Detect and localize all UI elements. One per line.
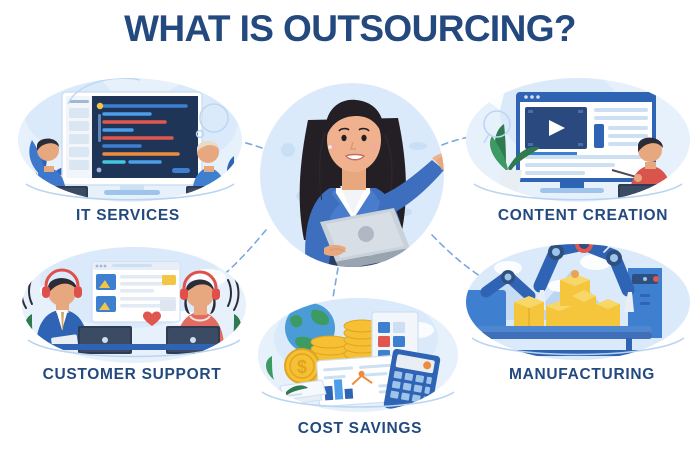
node-label-manufacturing: MANUFACTURING bbox=[468, 366, 696, 384]
center-figure-group bbox=[260, 83, 462, 270]
node-label-content-creation: CONTENT CREATION bbox=[472, 207, 694, 225]
page-title: WHAT IS OUTSOURCING? bbox=[0, 10, 700, 47]
connector-customer-support bbox=[220, 230, 266, 278]
node-label-customer-support: CUSTOMER SUPPORT bbox=[12, 366, 252, 384]
node-pod-cost-savings: $ bbox=[258, 292, 458, 416]
connector-manufacturing bbox=[432, 235, 486, 280]
node-pod-content-creation bbox=[466, 64, 690, 206]
plant-right bbox=[227, 156, 262, 192]
node-pod-customer-support bbox=[22, 232, 247, 363]
svg-text:$: $ bbox=[297, 357, 307, 377]
node-label-it-services: IT SERVICES bbox=[18, 207, 238, 225]
infographic-canvas: $ bbox=[0, 0, 700, 450]
dollar-coin-icon: $ bbox=[285, 349, 319, 383]
node-pod-it-services bbox=[18, 70, 262, 208]
node-pod-manufacturing bbox=[466, 235, 690, 360]
node-label-cost-savings: COST SAVINGS bbox=[260, 420, 460, 438]
